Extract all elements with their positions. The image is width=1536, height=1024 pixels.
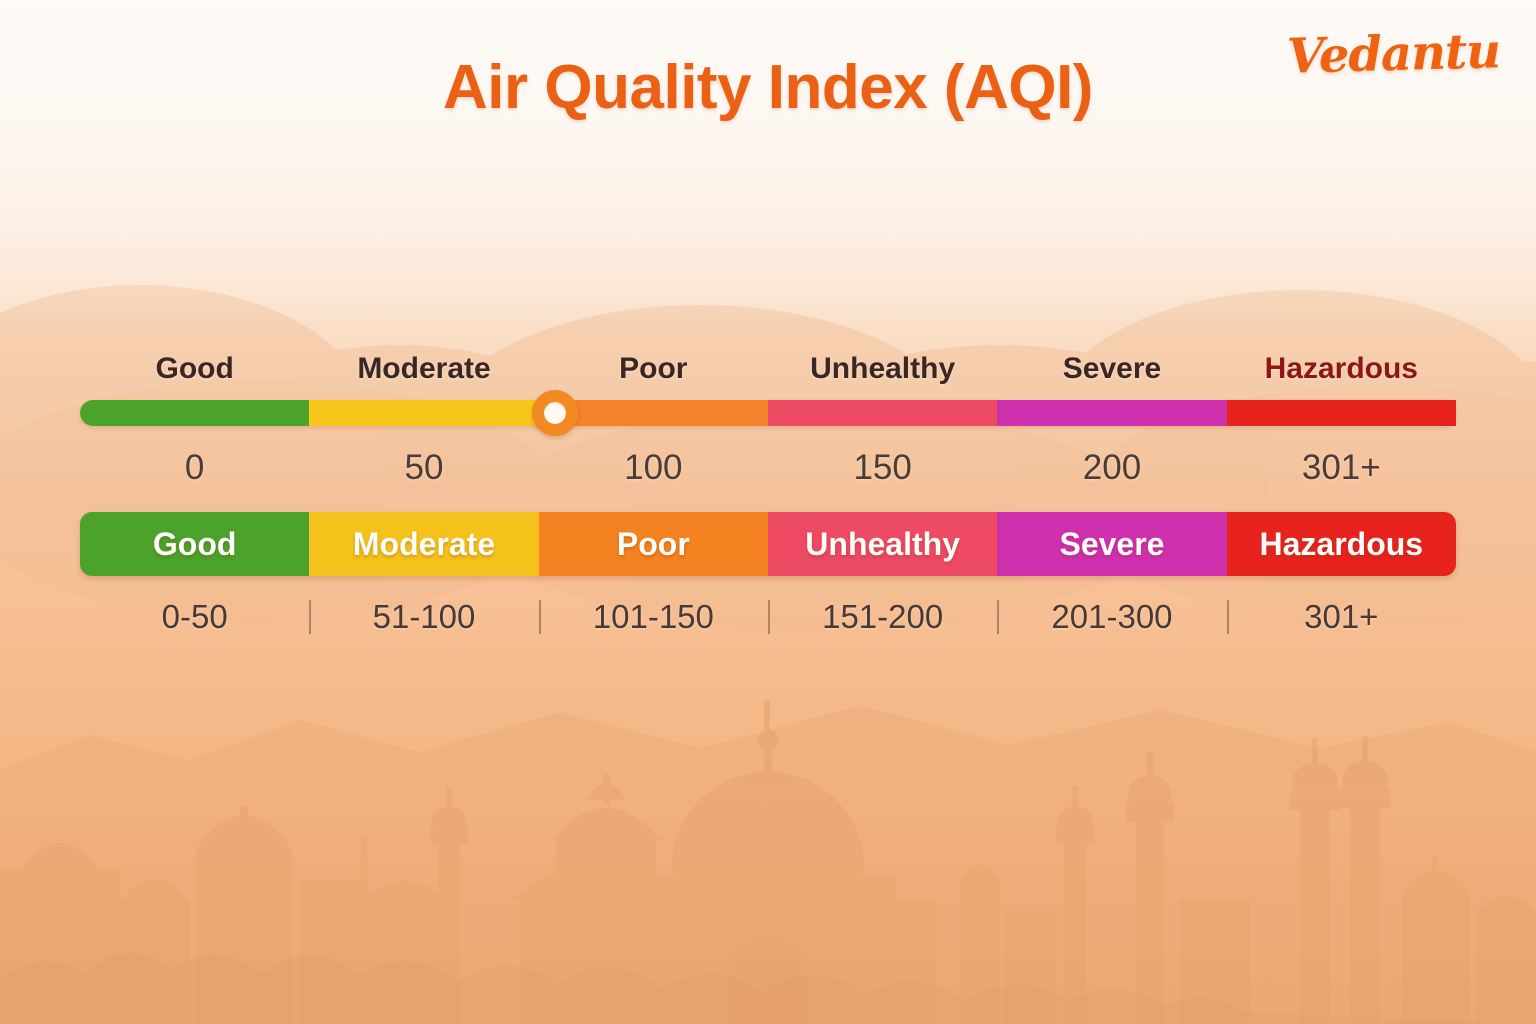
- scale-number-0: 0: [80, 448, 309, 488]
- range-values-row: 0-50 51-100 101-150 151-200 201-300 301+: [80, 598, 1456, 636]
- category-label-severe: Severe: [997, 352, 1226, 400]
- band-cell-poor: Poor: [539, 512, 768, 576]
- category-label-hazardous: Hazardous: [1227, 352, 1456, 400]
- aqi-infographic: Air Quality Index (AQI) Vedantu Good Mod…: [0, 0, 1536, 1024]
- aqi-meter-bar[interactable]: [80, 400, 1456, 426]
- scale-number-150: 150: [768, 448, 997, 488]
- range-good: 0-50: [80, 598, 309, 636]
- category-labels-row: Good Moderate Poor Unhealthy Severe Haza…: [80, 352, 1456, 400]
- category-label-moderate: Moderate: [309, 352, 538, 400]
- range-moderate: 51-100: [309, 598, 538, 636]
- meter-segment-good: [80, 400, 309, 426]
- meter-segment-moderate: [309, 400, 538, 426]
- scale-number-100: 100: [539, 448, 768, 488]
- band-cell-hazardous: Hazardous: [1227, 512, 1456, 576]
- range-poor: 101-150: [539, 598, 768, 636]
- category-label-unhealthy: Unhealthy: [768, 352, 997, 400]
- band-cell-unhealthy: Unhealthy: [768, 512, 997, 576]
- range-unhealthy: 151-200: [768, 598, 997, 636]
- meter-segment-unhealthy: [768, 400, 997, 426]
- scale-number-200: 200: [997, 448, 1226, 488]
- aqi-scale: Good Moderate Poor Unhealthy Severe Haza…: [80, 352, 1456, 636]
- aqi-marker-knob: [544, 402, 566, 424]
- category-label-poor: Poor: [539, 352, 768, 400]
- aqi-marker-handle[interactable]: [532, 390, 578, 436]
- meter-segment-severe: [997, 400, 1226, 426]
- scale-number-301: 301+: [1227, 448, 1456, 488]
- meter-segment-hazardous: [1227, 400, 1456, 426]
- range-severe: 201-300: [997, 598, 1226, 636]
- vedantu-logo: Vedantu: [1286, 23, 1500, 85]
- scale-numbers-row: 0 50 100 150 200 301+: [80, 448, 1456, 488]
- band-cell-moderate: Moderate: [309, 512, 538, 576]
- band-cell-good: Good: [80, 512, 309, 576]
- scale-number-50: 50: [309, 448, 538, 488]
- category-label-good: Good: [80, 352, 309, 400]
- category-color-band: Good Moderate Poor Unhealthy Severe Haza…: [80, 512, 1456, 576]
- band-cell-severe: Severe: [997, 512, 1226, 576]
- range-hazardous: 301+: [1227, 598, 1456, 636]
